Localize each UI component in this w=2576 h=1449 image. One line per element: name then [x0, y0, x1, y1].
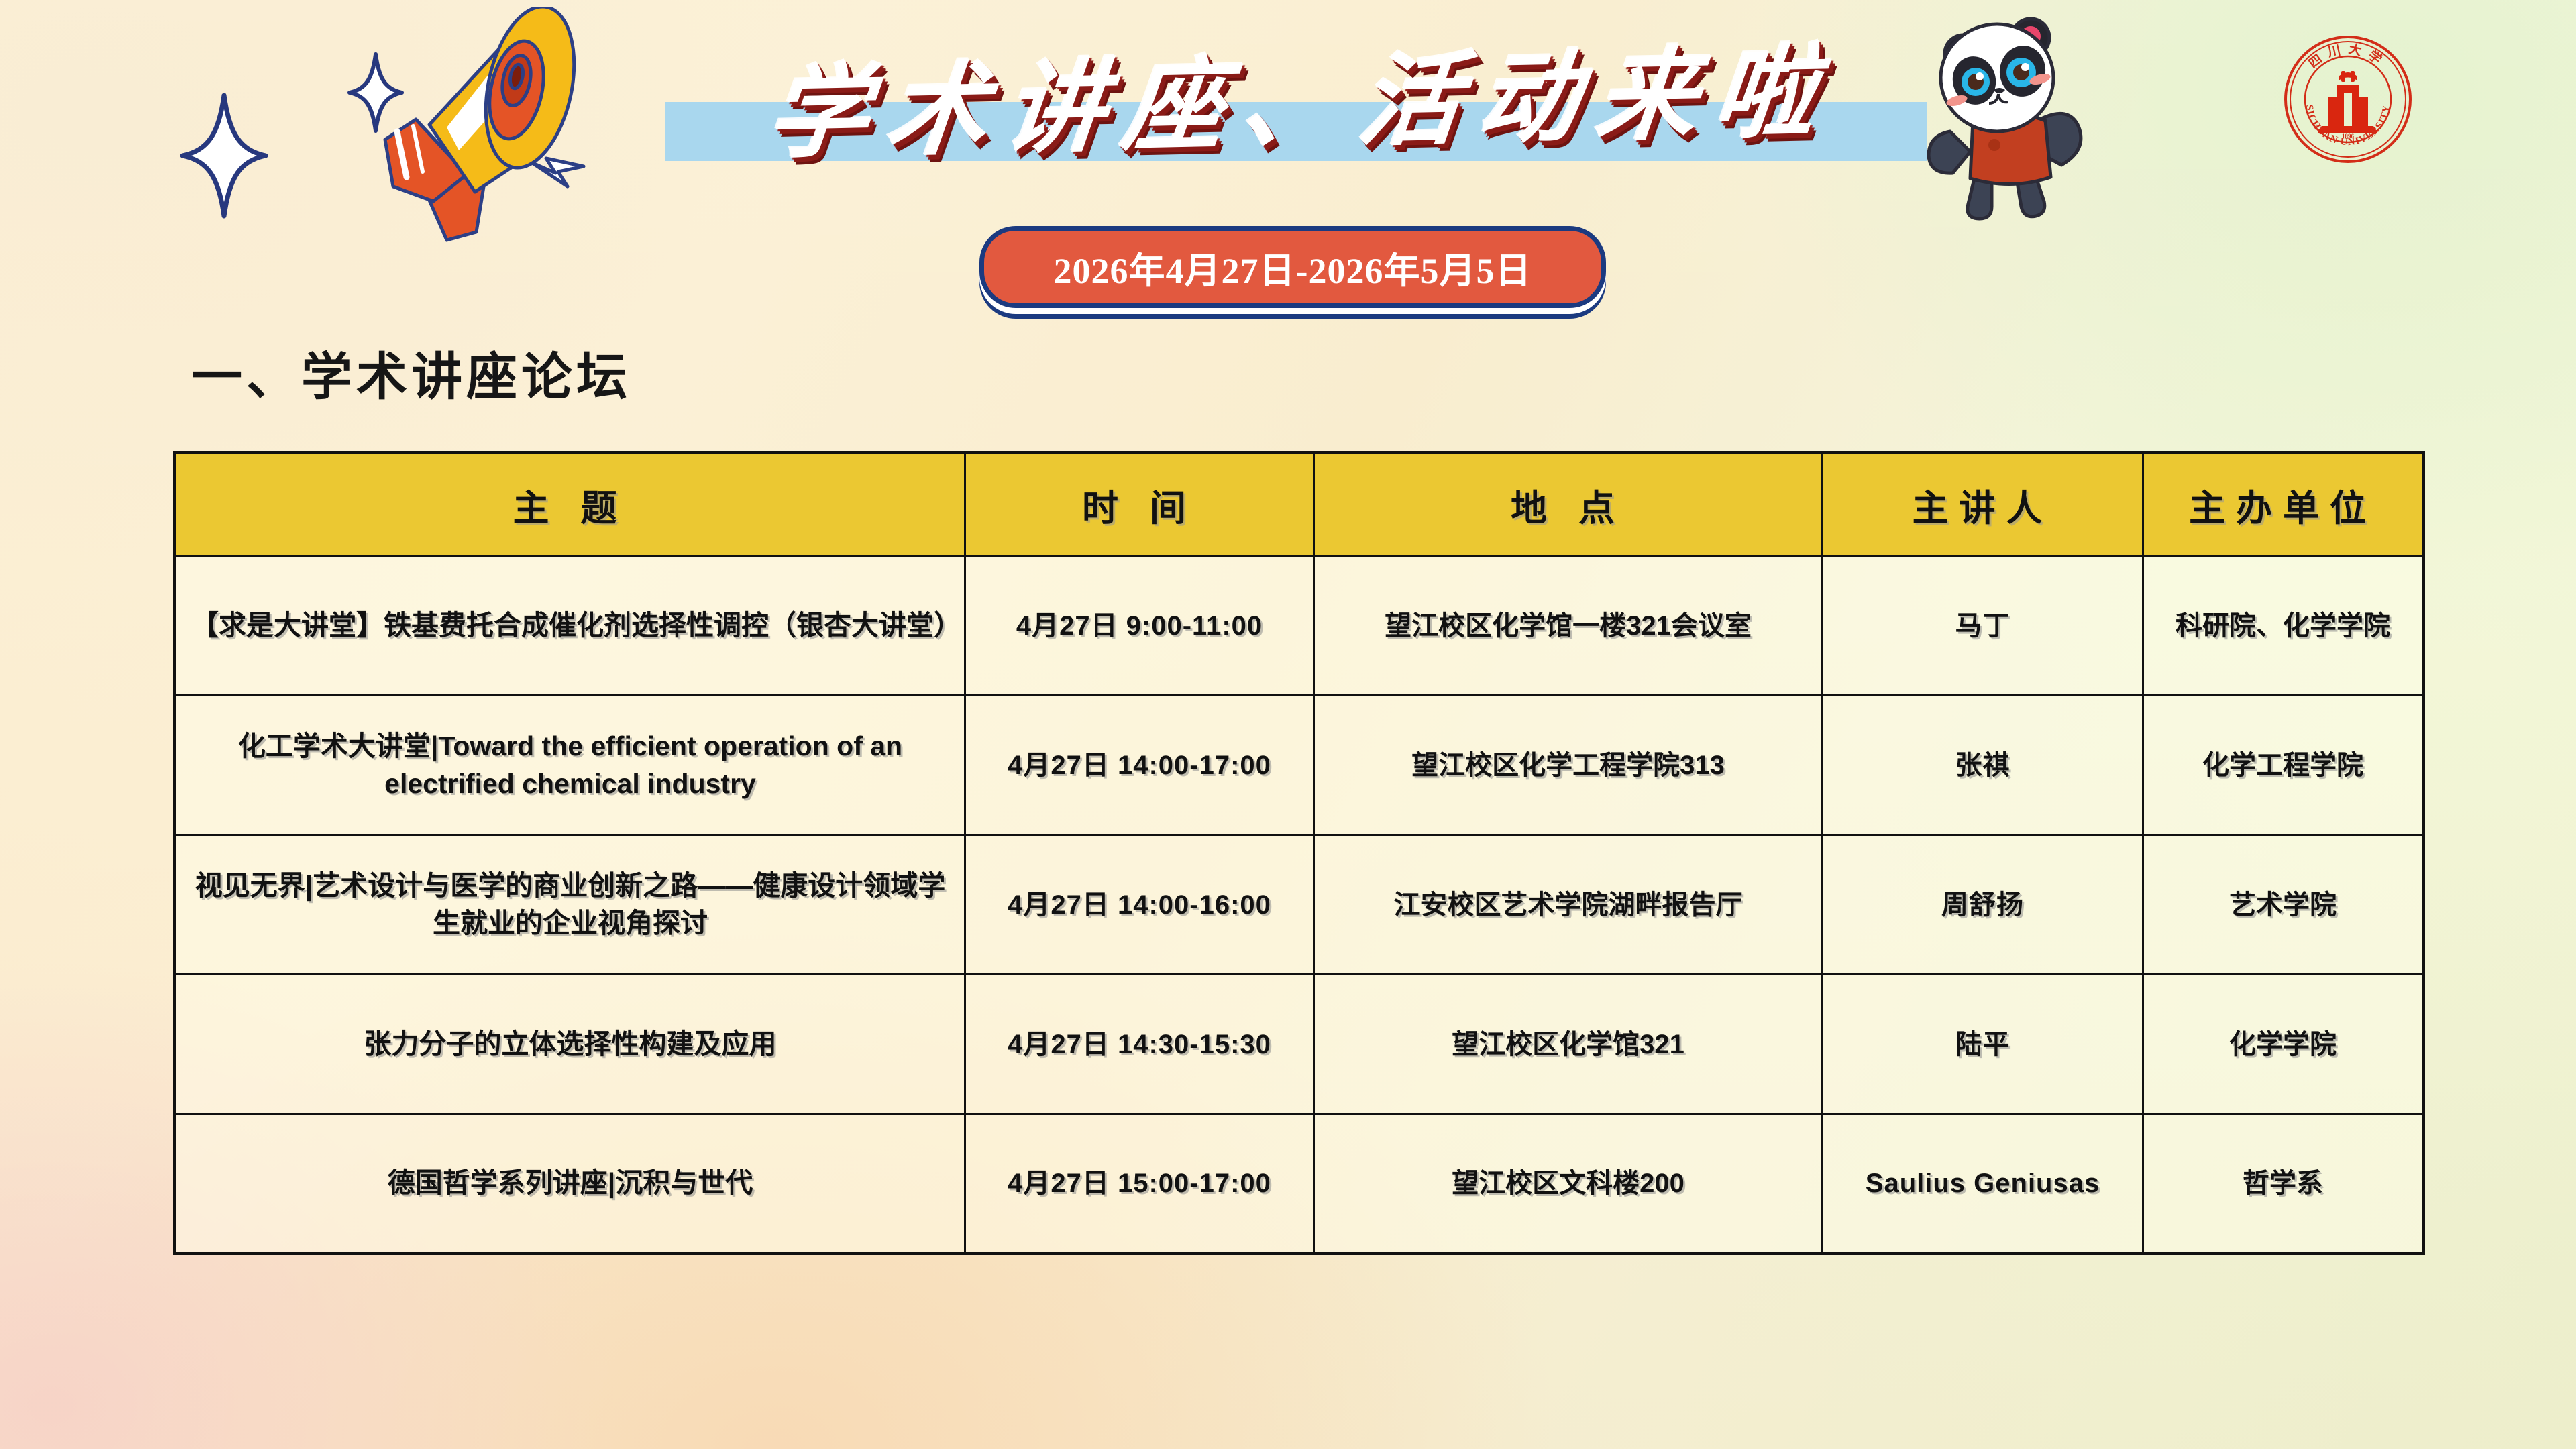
table-row: 张力分子的立体选择性构建及应用4月27日 14:30-15:30望江校区化学馆3… [175, 975, 2424, 1114]
svg-text:SICHUAN UNIVERSITY: SICHUAN UNIVERSITY [2304, 104, 2392, 148]
lecture-time: 4月27日 14:30-15:30 [965, 975, 1314, 1114]
lecture-speaker: Saulius Geniusas [1823, 1114, 2143, 1254]
lecture-speaker: 张祺 [1823, 696, 2143, 835]
lecture-organizer: 化学工程学院 [2143, 696, 2424, 835]
date-range-text: 2026年4月27日-2026年5月5日 [1054, 241, 1532, 294]
lecture-topic: 视见无界|艺术设计与医学的商业创新之路——健康设计领域学生就业的企业视角探讨 [175, 835, 965, 975]
table-row: 德国哲学系列讲座|沉积与世代4月27日 15:00-17:00望江校区文科楼20… [175, 1114, 2424, 1254]
lecture-organizer: 艺术学院 [2143, 835, 2424, 975]
lecture-place: 望江校区化学馆321 [1314, 975, 1823, 1114]
sparkle-icon [180, 93, 268, 219]
lecture-time: 4月27日 15:00-17:00 [965, 1114, 1314, 1254]
sichuan-university-logo: 1896 SICHUAN UNIVERSITY 四川大学 [2281, 32, 2415, 166]
column-header-org: 主办单位 [2143, 453, 2424, 556]
column-header-time: 时 间 [965, 453, 1314, 556]
lecture-place: 望江校区化学馆一楼321会议室 [1314, 556, 1823, 696]
lecture-time: 4月27日 14:00-16:00 [965, 835, 1314, 975]
lecture-speaker: 马丁 [1823, 556, 2143, 696]
date-range-badge: 2026年4月27日-2026年5月5日 [979, 226, 1606, 308]
lecture-place: 望江校区文科楼200 [1314, 1114, 1823, 1254]
column-header-speaker: 主讲人 [1823, 453, 2143, 556]
lecture-organizer: 哲学系 [2143, 1114, 2424, 1254]
lecture-time: 4月27日 9:00-11:00 [965, 556, 1314, 696]
lecture-speaker: 陆平 [1823, 975, 2143, 1114]
lecture-place: 江安校区艺术学院湖畔报告厅 [1314, 835, 1823, 975]
section-heading: 一、学术讲座论坛 [191, 335, 631, 409]
column-header-place: 地 点 [1314, 453, 1823, 556]
logo-english-name: SICHUAN UNIVERSITY [2304, 104, 2392, 148]
table-row: 化工学术大讲堂|Toward the efficient operation o… [175, 696, 2424, 835]
lecture-topic: 【求是大讲堂】铁基费托合成催化剂选择性调控（银杏大讲堂） [175, 556, 965, 696]
lecture-time: 4月27日 14:00-17:00 [965, 696, 1314, 835]
lecture-topic: 化工学术大讲堂|Toward the efficient operation o… [175, 696, 965, 835]
table-row: 视见无界|艺术设计与医学的商业创新之路——健康设计领域学生就业的企业视角探讨4月… [175, 835, 2424, 975]
lecture-topic: 德国哲学系列讲座|沉积与世代 [175, 1114, 965, 1254]
lecture-organizer: 科研院、化学学院 [2143, 556, 2424, 696]
lecture-topic: 张力分子的立体选择性构建及应用 [175, 975, 965, 1114]
megaphone-icon [315, 7, 604, 248]
table-row: 【求是大讲堂】铁基费托合成催化剂选择性调控（银杏大讲堂）4月27日 9:00-1… [175, 556, 2424, 696]
lecture-speaker: 周舒扬 [1823, 835, 2143, 975]
lecture-schedule-table: 主 题 时 间 地 点 主讲人 主办单位 【求是大讲堂】铁基费托合成催化剂选择性… [173, 451, 2425, 1255]
table-header-row: 主 题 时 间 地 点 主讲人 主办单位 [175, 453, 2424, 556]
page-title: 学术讲座、活动来啦 [649, 7, 1955, 181]
lecture-organizer: 化学学院 [2143, 975, 2424, 1114]
lecture-place: 望江校区化学工程学院313 [1314, 696, 1823, 835]
column-header-topic: 主 题 [175, 453, 965, 556]
